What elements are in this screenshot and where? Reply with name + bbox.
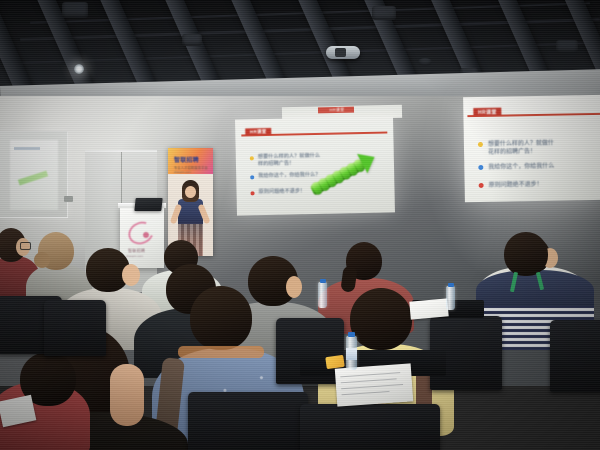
ceiling-speaker	[556, 40, 578, 53]
laptop-on-podium[interactable]	[134, 198, 162, 211]
seminar-room-photo: HR课堂 HR课堂 想要什么样的人？就做什么 样的招聘广告！ 我给你这个，你给我…	[0, 0, 600, 450]
slide-bullet-marker	[250, 175, 254, 179]
chair-back	[300, 404, 440, 450]
chair-back	[188, 392, 308, 450]
ceiling-speaker	[372, 6, 396, 20]
handout-papers[interactable]	[335, 363, 413, 406]
ceiling-speaker	[182, 34, 202, 46]
slide-bullet-text: 我给你这个，你给我什么？	[258, 171, 320, 179]
chair-back	[44, 300, 106, 356]
slide-bullet-text: 我给你这个，你给我什么	[488, 161, 554, 171]
bottle-cap	[448, 283, 454, 287]
water-bottle[interactable]	[318, 282, 327, 308]
slide-bullet-text: 原则问题绝不退步！	[489, 179, 543, 189]
ceiling-speaker	[62, 2, 88, 18]
ceiling-mounted-projector	[326, 46, 360, 59]
ceiling-spotlight	[74, 64, 84, 74]
slide-bullet-marker	[478, 142, 483, 147]
chair-back	[550, 320, 600, 392]
handout-papers[interactable]	[409, 298, 448, 319]
whiteboard-slide-header	[14, 147, 40, 150]
slide-bullet-text: 花样的招聘广告！	[488, 146, 536, 156]
bottle-cap	[320, 279, 326, 283]
slide-bullet-marker	[251, 191, 255, 195]
bottle-cap	[348, 332, 355, 337]
ceiling-duct	[10, 42, 600, 65]
slide-bullet-marker	[479, 183, 484, 188]
ceiling-sensor	[418, 58, 432, 66]
bottle-label	[346, 348, 357, 360]
slide-header-tag: HR课堂	[473, 108, 501, 116]
slide-bullet-marker	[250, 156, 254, 160]
snack-pack[interactable]	[325, 355, 344, 369]
slide-bullet-marker	[478, 165, 483, 170]
water-bottle[interactable]	[446, 286, 455, 310]
slide-header-tag: HR课堂	[245, 128, 271, 136]
projection-screen-left: HR课堂 想要什么样的人？就做什么 样的招聘广告！ 我给你这个，你给我什么？ 原…	[235, 116, 395, 215]
wall-switch[interactable]	[64, 196, 73, 202]
banner-url: zhaopin.com	[174, 170, 191, 174]
projection-screen-right: HR课堂 想要什么样的人？就做什 花样的招聘广告！ 我给你这个，你给我什么 原则…	[463, 95, 600, 202]
banner-logo-text: 智联招聘	[174, 155, 199, 164]
upper-slide-header-label: HR课堂	[320, 107, 354, 114]
slide-bullet-text: 样的招聘广告！	[258, 159, 294, 167]
slide-bullet-text: 原则问题绝不退步！	[258, 187, 305, 195]
